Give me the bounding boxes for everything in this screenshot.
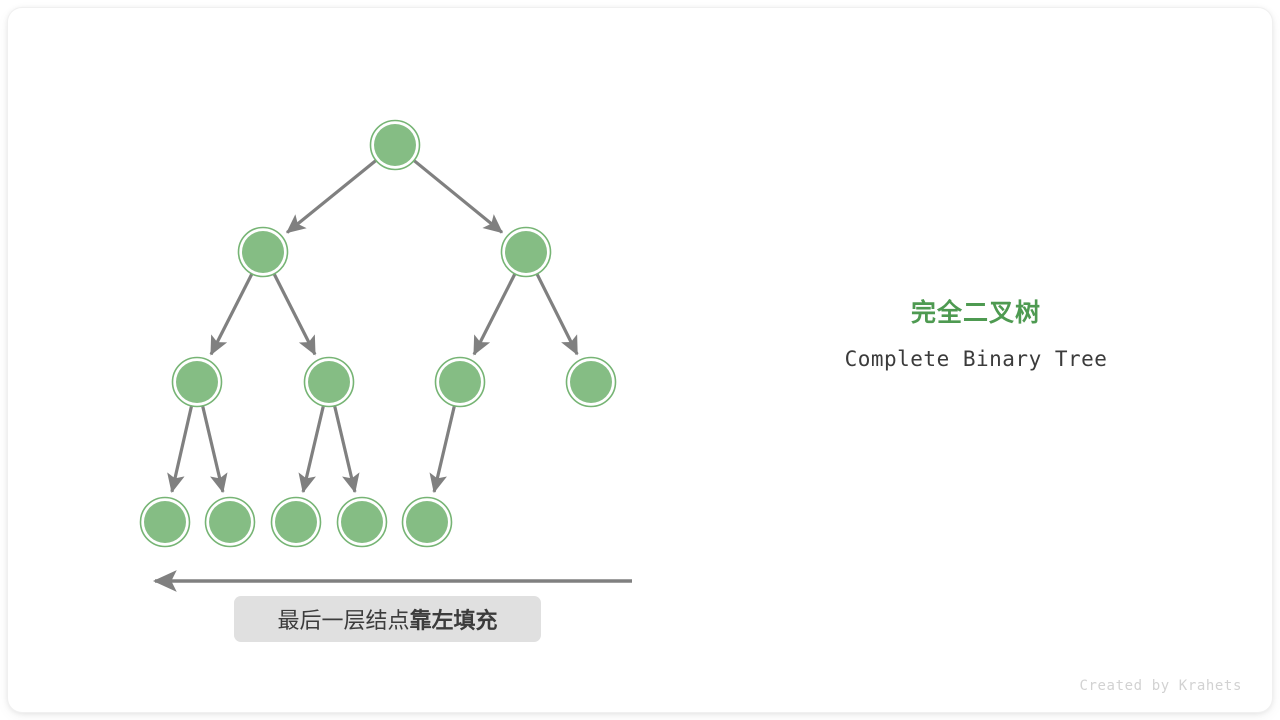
tree-edge [335, 405, 355, 491]
tree-node-circle [341, 501, 383, 543]
tree-node-circle [308, 361, 350, 403]
tree-edge [211, 273, 252, 354]
tree-node [436, 358, 485, 407]
tree-edge [172, 405, 192, 491]
tree-nodes [141, 121, 616, 547]
caption-text: 最后一层结点靠左填充 [277, 603, 497, 635]
tree-node [338, 498, 387, 547]
tree-node-circle [570, 361, 612, 403]
tree-node-circle [144, 501, 186, 543]
tree-node [141, 498, 190, 547]
tree-node [272, 498, 321, 547]
tree-node-circle [209, 501, 251, 543]
legend-block: 完全二叉树 Complete Binary Tree [708, 296, 1244, 374]
legend-subtitle: Complete Binary Tree [708, 344, 1244, 374]
caption-text-emphasis: 靠左填充 [410, 608, 498, 633]
tree-edge [414, 160, 502, 232]
tree-edges [172, 160, 577, 492]
tree-edge [474, 273, 515, 354]
tree-node-circle [505, 231, 547, 273]
tree-node [403, 498, 452, 547]
tree-node-circle [439, 361, 481, 403]
legend-title: 完全二叉树 [708, 296, 1244, 330]
tree-node [371, 121, 420, 170]
tree-node [239, 228, 288, 277]
tree-node [305, 358, 354, 407]
diagram-card: 完全二叉树 Complete Binary Tree 最后一层结点靠左填充 Cr… [8, 8, 1272, 712]
caption-text-normal: 最后一层结点 [277, 608, 409, 633]
tree-node [206, 498, 255, 547]
tree-edge [203, 405, 223, 491]
tree-edge [287, 160, 376, 232]
tree-node-circle [242, 231, 284, 273]
footer-credit: Created by Krahets [1079, 678, 1242, 694]
tree-node [173, 358, 222, 407]
tree-edge [303, 405, 323, 491]
tree-node-circle [374, 124, 416, 166]
tree-node-circle [406, 501, 448, 543]
tree-edge [434, 405, 454, 491]
tree-edge [274, 273, 315, 354]
tree-node [567, 358, 616, 407]
tree-node [502, 228, 551, 277]
tree-edge [537, 273, 577, 354]
caption-chip: 最后一层结点靠左填充 [234, 596, 541, 642]
tree-node-circle [275, 501, 317, 543]
tree-node-circle [176, 361, 218, 403]
